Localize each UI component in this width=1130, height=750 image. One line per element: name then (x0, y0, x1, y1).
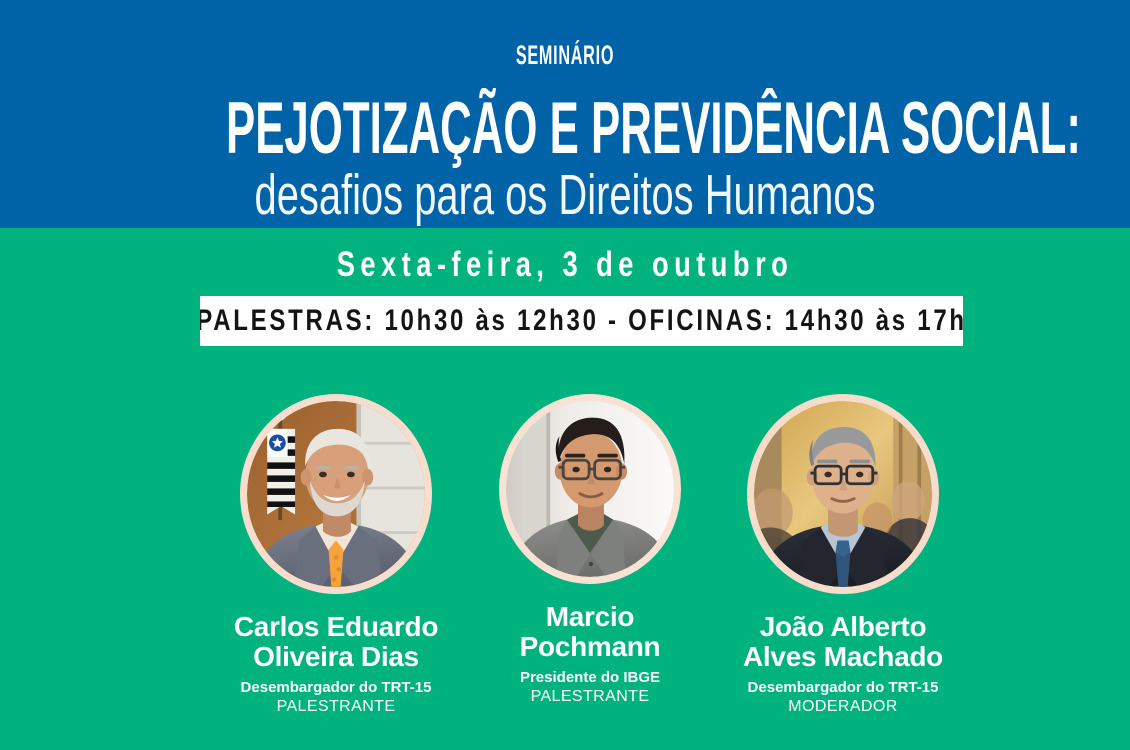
speaker-kind: MODERADOR (712, 697, 974, 716)
speaker-name-line1: João Alberto (760, 611, 927, 642)
speaker-card: Marcio Pochmann Presidente do IBGE PALES… (472, 394, 708, 706)
speaker-role: Desembargador do TRT-15 (712, 679, 974, 697)
speaker-kind: PALESTRANTE (472, 687, 708, 706)
speaker-card: João Alberto Alves Machado Desembargador… (712, 394, 974, 716)
avatar (499, 394, 681, 584)
poster-subtitle: desafios para os Direitos Humanos (170, 168, 961, 222)
schedule-bar: PALESTRAS: 10h30 às 12h30 - OFICINAS: 14… (200, 296, 963, 346)
event-poster: SEMINÁRIO PEJOTIZAÇÃO E PREVIDÊNCIA SOCI… (0, 0, 1130, 750)
speaker-name: João Alberto Alves Machado (712, 612, 974, 672)
event-date: Sexta-feira, 3 de outubro (124, 246, 1005, 284)
speaker-name: Carlos Eduardo Oliveira Dias (205, 612, 467, 672)
avatar (747, 394, 939, 594)
portrait-photo-icon (506, 401, 674, 577)
schedule-text: PALESTRAS: 10h30 às 12h30 - OFICINAS: 14… (200, 305, 963, 337)
speakers-section: Carlos Eduardo Oliveira Dias Desembargad… (0, 394, 1130, 750)
speaker-role: Presidente do IBGE (472, 669, 708, 687)
portrait-photo-icon (754, 401, 932, 587)
speaker-name: Marcio Pochmann (472, 602, 708, 662)
speaker-card: Carlos Eduardo Oliveira Dias Desembargad… (205, 394, 467, 716)
speaker-name-line2: Oliveira Dias (253, 641, 419, 672)
avatar (240, 394, 432, 594)
speaker-name-line2: Pochmann (520, 631, 661, 662)
header-band: SEMINÁRIO PEJOTIZAÇÃO E PREVIDÊNCIA SOCI… (0, 0, 1130, 228)
speaker-name-line1: Carlos Eduardo (234, 611, 438, 642)
speaker-name-line1: Marcio (546, 601, 634, 632)
speaker-name-line2: Alves Machado (743, 641, 943, 672)
poster-title: PEJOTIZAÇÃO E PREVIDÊNCIA SOCIAL: (226, 96, 904, 162)
poster-kicker: SEMINÁRIO (226, 40, 904, 70)
portrait-photo-icon (247, 401, 425, 587)
speaker-kind: PALESTRANTE (205, 697, 467, 716)
speaker-role: Desembargador do TRT-15 (205, 679, 467, 697)
